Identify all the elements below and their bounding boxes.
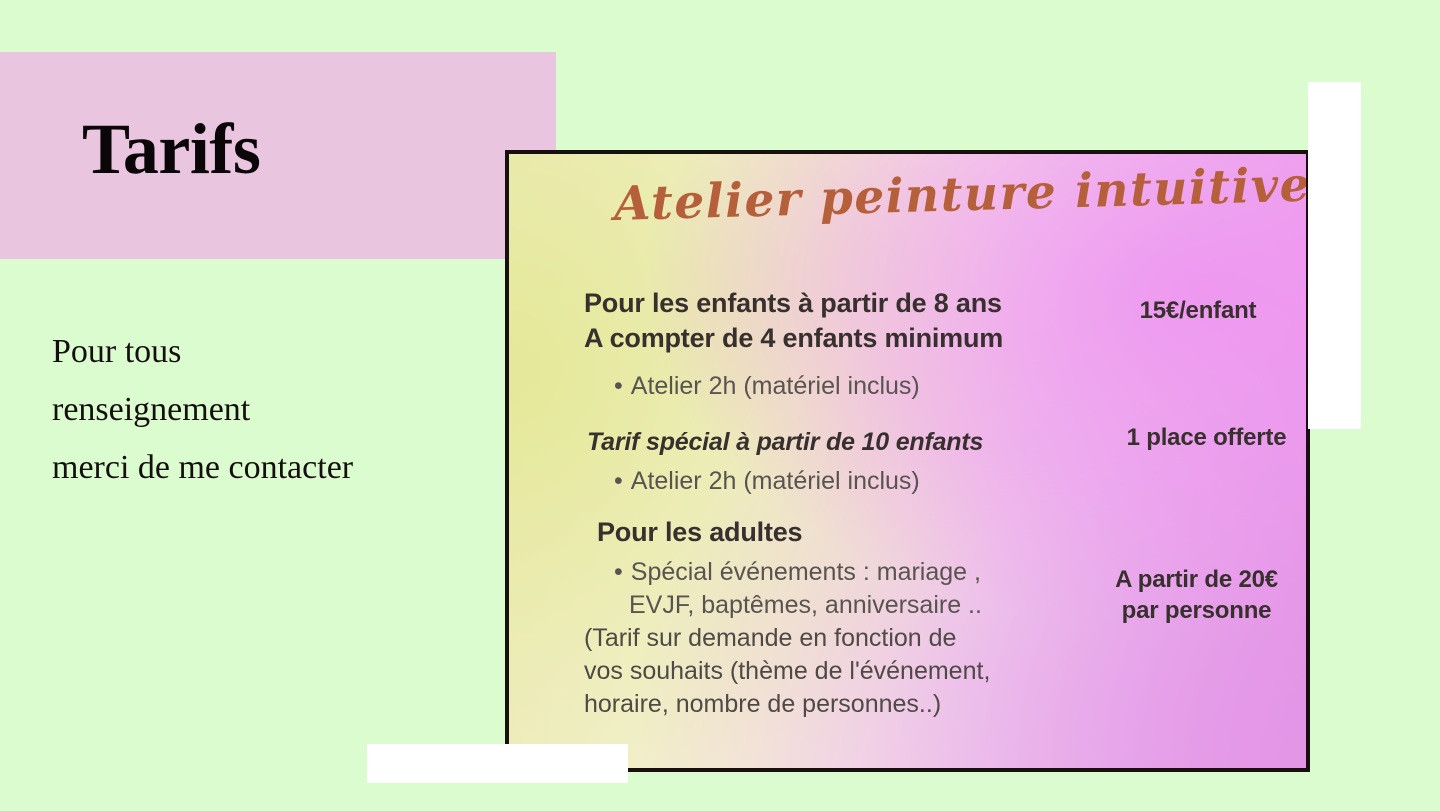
price-adults-line-1: A partir de 20€ — [1089, 564, 1304, 595]
section-adults-bullet-line-1: Spécial événements : mariage , — [631, 558, 981, 586]
section-special-rate: Tarif spécial à partir de 10 enfants •At… — [584, 426, 1104, 498]
card-content: Atelier peinture intuitive Pour les enfa… — [509, 154, 1306, 768]
card-body-column: Pour les enfants à partir de 8 ans A com… — [584, 286, 1104, 721]
price-adults-line-2: par personne — [1089, 595, 1304, 626]
section-children-bullet-1: Atelier 2h (matériel inclus) — [631, 372, 920, 400]
section-children: Pour les enfants à partir de 8 ans A com… — [584, 286, 1104, 403]
section-special-rate-bullet-1: Atelier 2h (matériel inclus) — [631, 467, 920, 495]
bullet-icon: • — [614, 558, 623, 586]
section-adults-note-line-1: (Tarif sur demande en fonction de — [584, 622, 1104, 655]
contact-text-block: Pour tous renseignement merci de me cont… — [52, 323, 472, 497]
contact-line-2: renseignement — [52, 381, 472, 439]
decorative-rect-right — [1308, 82, 1361, 429]
section-adults-note-line-3: horaire, nombre de personnes..) — [584, 688, 1104, 721]
contact-line-3: merci de me contacter — [52, 439, 472, 497]
list-item: •Atelier 2h (matériel inclus) — [614, 370, 1104, 403]
bullet-icon: • — [614, 467, 623, 495]
section-special-rate-heading: Tarif spécial à partir de 10 enfants — [587, 426, 1104, 459]
price-children: 15€/enfant — [1093, 295, 1303, 326]
section-children-heading-line-1: Pour les enfants à partir de 8 ans — [584, 286, 1104, 321]
section-adults: Pour les adultes •Spécial événements : m… — [584, 515, 1104, 721]
price-special-rate: 1 place offerte — [1099, 422, 1310, 453]
section-adults-note-line-2: vos souhaits (thème de l'événement, — [584, 655, 1104, 688]
pricing-card: Atelier peinture intuitive Pour les enfa… — [505, 150, 1310, 772]
list-item: •Spécial événements : mariage , — [614, 556, 1104, 589]
section-adults-bullet-line-2-wrap: EVJF, baptêmes, anniversaire .. — [614, 589, 1104, 622]
list-item: •Atelier 2h (matériel inclus) — [614, 465, 1104, 498]
price-adults: A partir de 20€ par personne — [1089, 564, 1304, 626]
decorative-rect-bottom — [367, 744, 628, 783]
section-children-heading-line-2: A compter de 4 enfants minimum — [584, 321, 1104, 356]
page-title: Tarifs — [82, 113, 260, 185]
card-script-title: Atelier peinture intuitive — [613, 164, 1224, 228]
slide-canvas: Tarifs Pour tous renseignement merci de … — [0, 0, 1440, 811]
bullet-icon: • — [614, 372, 623, 400]
contact-line-1: Pour tous — [52, 323, 472, 381]
section-adults-heading: Pour les adultes — [597, 515, 1104, 550]
section-adults-bullet-line-2: EVJF, baptêmes, anniversaire .. — [629, 591, 982, 619]
